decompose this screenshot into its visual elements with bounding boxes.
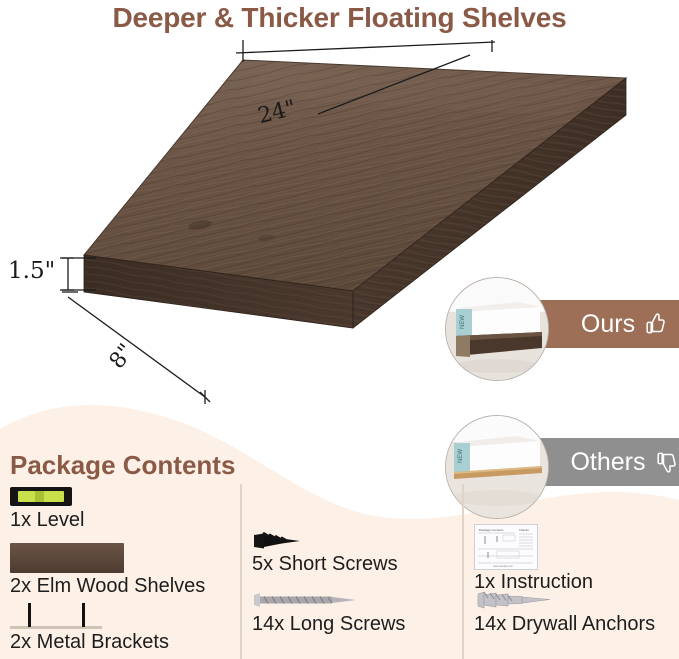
package-item: 5x Short Screws	[252, 530, 462, 588]
package-item: 14x Drywall Anchors	[474, 588, 679, 646]
ours-label: Ours	[535, 310, 635, 339]
package-column-2: 5x Short Screws	[240, 484, 462, 659]
package-item: 2x Metal Brackets	[10, 600, 240, 658]
package-item-label: 1x Level	[10, 510, 240, 531]
ours-product-photo: NEW	[445, 277, 549, 381]
package-contents-title: Package Contents	[10, 450, 235, 481]
short-screw-icon	[252, 530, 462, 552]
infographic-canvas: Deeper & Thicker Floating Shelves	[0, 0, 679, 659]
package-item: 14x Long Screws	[252, 588, 462, 646]
svg-text:www.example.com: www.example.com	[493, 565, 513, 568]
package-item: 1x Level	[10, 484, 240, 542]
instruction-sheet-icon: Package Contents Thanks	[474, 524, 679, 570]
thumbs-down-icon	[652, 449, 678, 475]
svg-text:NEW: NEW	[458, 449, 464, 463]
long-screw-icon	[252, 588, 462, 612]
package-item-label: 5x Short Screws	[252, 554, 462, 575]
package-item-label: 2x Metal Brackets	[10, 632, 240, 653]
svg-text:Thanks: Thanks	[519, 528, 529, 532]
package-column-3: Package Contents Thanks	[462, 484, 679, 659]
package-item-label: 14x Drywall Anchors	[474, 614, 679, 635]
package-item: 2x Elm Wood Shelves	[10, 542, 240, 600]
package-item-label: 14x Long Screws	[252, 614, 462, 635]
package-item-label: 2x Elm Wood Shelves	[10, 576, 240, 597]
page-title: Deeper & Thicker Floating Shelves	[0, 2, 679, 34]
drywall-anchor-icon	[474, 588, 679, 612]
dimension-label-thickness: 1.5"	[8, 258, 55, 284]
shelf-hero-illustration	[0, 0, 679, 420]
thumbs-up-icon	[641, 311, 667, 337]
svg-text:Package Contents: Package Contents	[479, 528, 504, 532]
package-contents-grid: 1x Level 2x Elm Wood Shelves 2x Metal Br…	[0, 484, 679, 659]
bubble-level-icon	[10, 484, 240, 508]
package-item: Package Contents Thanks	[474, 524, 679, 588]
svg-text:NEW: NEW	[460, 315, 466, 329]
wood-board-icon	[10, 542, 240, 574]
metal-bracket-icon	[10, 600, 240, 630]
package-column-1: 1x Level 2x Elm Wood Shelves 2x Metal Br…	[0, 484, 240, 659]
